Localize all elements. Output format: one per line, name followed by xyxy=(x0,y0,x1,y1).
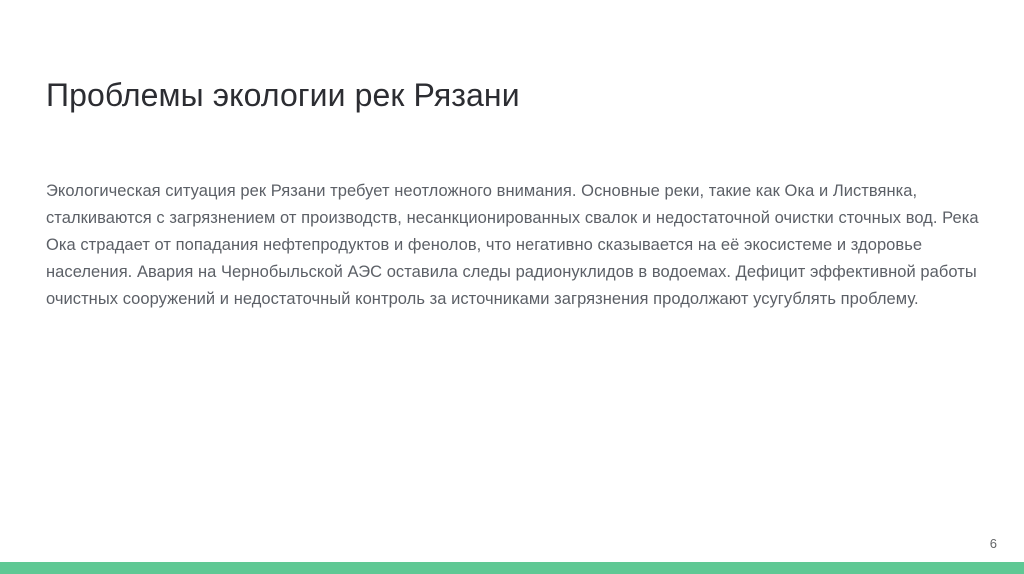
body-paragraph: Экологическая ситуация рек Рязани требуе… xyxy=(46,178,981,313)
slide-body: Экологическая ситуация рек Рязани требуе… xyxy=(46,178,981,313)
page-number: 6 xyxy=(990,536,997,552)
slide: Проблемы экологии рек Рязани Экологическ… xyxy=(0,0,1024,574)
accent-bar xyxy=(0,562,1024,574)
page-title: Проблемы экологии рек Рязани xyxy=(46,75,946,115)
